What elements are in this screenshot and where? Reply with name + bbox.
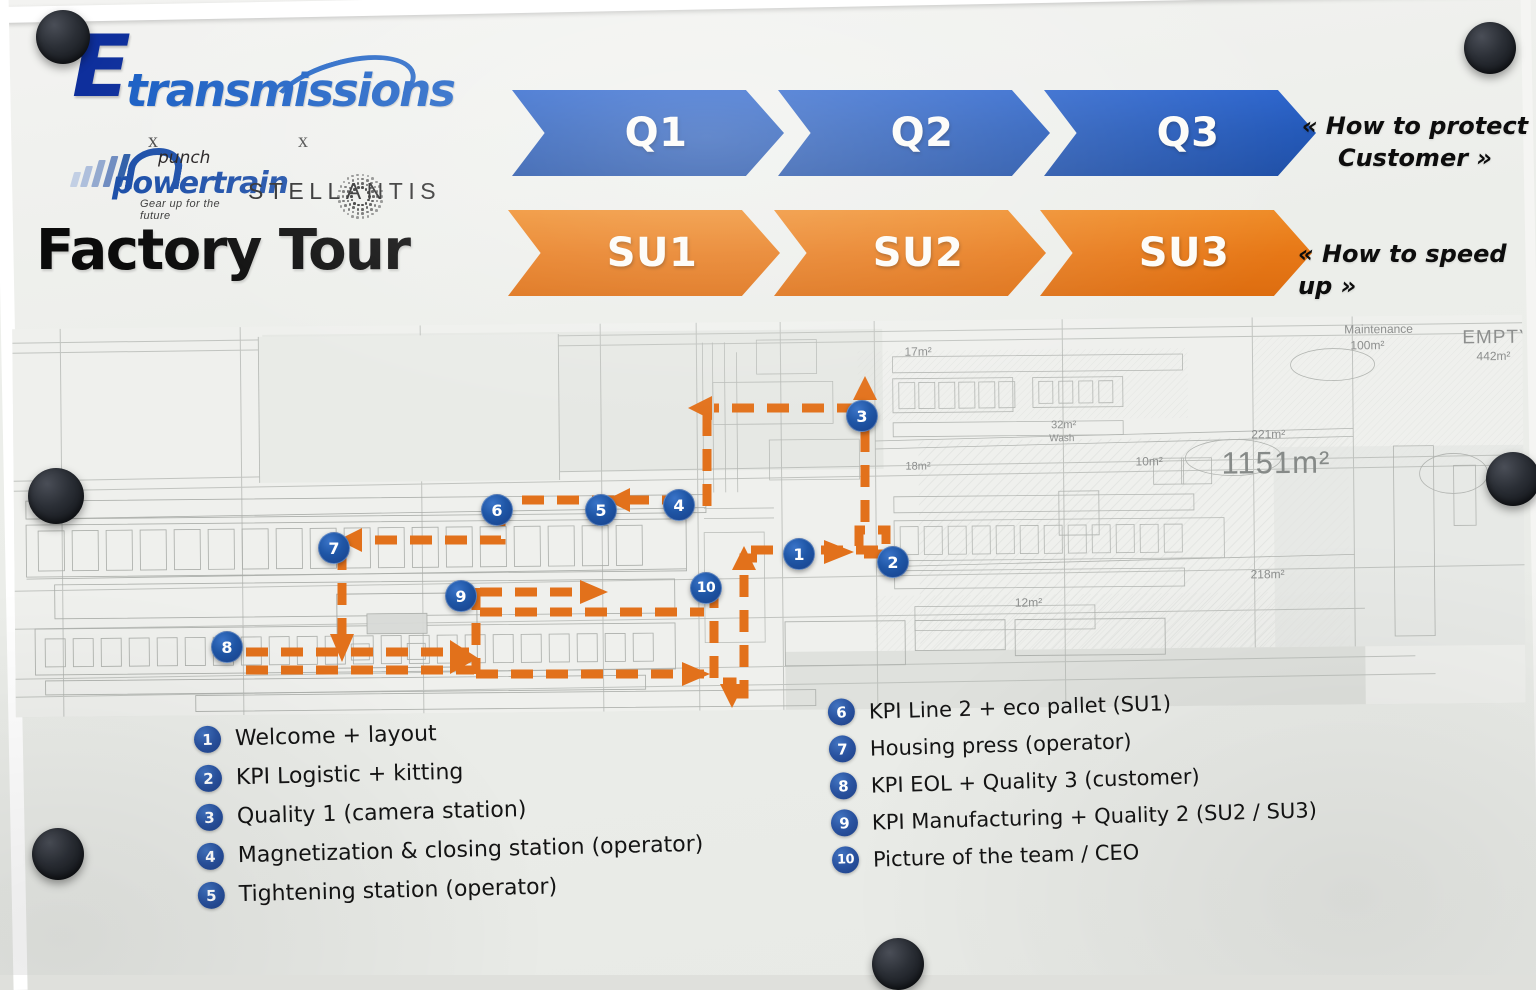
legend-marker-5: 5	[198, 882, 226, 910]
map-marker-6[interactable]: 6	[481, 494, 513, 526]
map-marker-1[interactable]: 1	[783, 538, 815, 570]
factory-tour-poster: E transmissions x x punch powertrain Gea…	[0, 0, 1536, 975]
area-label-empty: EMPTY	[1462, 327, 1526, 350]
list-item[interactable]: 2 KPI Logistic + kitting	[195, 753, 702, 792]
chevron-su2-label: SU2	[857, 230, 964, 276]
area-label-empty-size: 442m²	[1476, 349, 1510, 363]
stellantis-dots-icon	[336, 172, 382, 218]
legend-marker-9: 9	[831, 809, 859, 837]
legend-marker-4: 4	[197, 843, 225, 871]
area-label-18: 18m²	[905, 460, 930, 472]
punch-word: punch	[158, 148, 210, 168]
page-title: Factory Tour	[36, 218, 410, 283]
chevron-q1[interactable]: Q1	[512, 90, 784, 176]
magnet-top-left	[36, 10, 90, 64]
brand-logo-block: E transmissions x x punch powertrain Gea…	[62, 22, 412, 212]
quality-side-note-line1: « How to protect	[1300, 110, 1530, 142]
area-label-maintenance: Maintenance	[1344, 322, 1413, 337]
chevron-su2[interactable]: SU2	[774, 210, 1046, 296]
legend-label-6: KPI Line 2 + eco pallet (SU1)	[869, 691, 1172, 723]
area-label-10: 10m²	[1135, 454, 1162, 468]
speedup-chevron-row: SU1 SU2 SU3	[508, 210, 1298, 296]
chevron-su3-label: SU3	[1123, 230, 1230, 276]
swoosh-icon	[262, 41, 424, 146]
chevron-q2[interactable]: Q2	[778, 90, 1050, 176]
chevron-su1-label: SU1	[591, 230, 698, 276]
legend-label-1: Welcome + layout	[235, 721, 437, 751]
list-item[interactable]: 10 Picture of the team / CEO	[832, 833, 1319, 874]
area-label-12: 12m²	[1015, 595, 1042, 609]
chevron-q2-label: Q2	[875, 110, 954, 156]
map-marker-5[interactable]: 5	[585, 494, 617, 526]
area-label-wash: Wash	[1049, 433, 1074, 444]
area-label-218: 218m²	[1251, 567, 1285, 581]
list-item[interactable]: 8 KPI EOL + Quality 3 (customer)	[830, 759, 1317, 800]
punch-powertrain-logo: punch powertrain Gear up for the future	[72, 146, 232, 216]
tour-legend: 1 Welcome + layout 2 KPI Logistic + kitt…	[0, 700, 1536, 975]
legend-label-5: Tightening station (operator)	[239, 874, 558, 907]
map-marker-9[interactable]: 9	[445, 580, 477, 612]
map-marker-10[interactable]: 10	[690, 572, 722, 604]
chevron-q3-label: Q3	[1141, 110, 1220, 156]
poster-header: E transmissions x x punch powertrain Gea…	[0, 0, 1536, 320]
list-item[interactable]: 3 Quality 1 (camera station)	[196, 792, 703, 831]
legend-marker-6: 6	[828, 698, 856, 726]
map-marker-3[interactable]: 3	[846, 400, 878, 432]
legend-label-3: Quality 1 (camera station)	[237, 797, 527, 829]
area-label-17: 17m²	[904, 344, 931, 358]
legend-marker-8: 8	[830, 772, 858, 800]
list-item[interactable]: 9 KPI Manufacturing + Quality 2 (SU2 / S…	[831, 796, 1318, 837]
speedup-side-note: « How to speed up »	[1298, 238, 1536, 303]
area-label-32: 32m²	[1051, 419, 1076, 431]
brand-connector-right: x	[298, 130, 308, 153]
legend-marker-7: 7	[829, 735, 857, 763]
legend-label-2: KPI Logistic + kitting	[236, 760, 464, 791]
list-item[interactable]: 1 Welcome + layout	[194, 714, 701, 753]
list-item[interactable]: 7 Housing press (operator)	[829, 722, 1316, 763]
area-label-1151: 1151m²	[1221, 445, 1330, 482]
stellantis-logo: STELLANTIS	[248, 174, 418, 214]
list-item[interactable]: 4 Magnetization & closing station (opera…	[197, 831, 704, 870]
quality-chevron-row: Q1 Q2 Q3	[512, 90, 1302, 176]
map-marker-7[interactable]: 7	[318, 532, 350, 564]
legend-marker-3: 3	[196, 804, 224, 832]
magnet-middle-right	[1486, 452, 1536, 506]
legend-marker-1: 1	[194, 726, 222, 754]
magnet-bottom-center	[872, 938, 924, 990]
quality-side-note-line2: Customer »	[1300, 142, 1530, 174]
legend-column-left: 1 Welcome + layout 2 KPI Logistic + kitt…	[194, 714, 705, 921]
map-marker-2[interactable]: 2	[877, 546, 909, 578]
magnet-middle-left	[28, 468, 84, 524]
magnet-bottom-left	[32, 828, 84, 880]
quality-side-note: « How to protect Customer »	[1300, 110, 1530, 175]
legend-label-9: KPI Manufacturing + Quality 2 (SU2 / SU3…	[872, 798, 1317, 834]
legend-label-8: KPI EOL + Quality 3 (customer)	[871, 764, 1200, 797]
map-marker-8[interactable]: 8	[211, 631, 243, 663]
legend-label-7: Housing press (operator)	[870, 729, 1132, 760]
magnet-top-right	[1464, 22, 1516, 74]
chevron-su1[interactable]: SU1	[508, 210, 780, 296]
chevron-su3[interactable]: SU3	[1040, 210, 1312, 296]
map-marker-4[interactable]: 4	[663, 489, 695, 521]
legend-marker-10: 10	[832, 846, 860, 874]
legend-label-4: Magnetization & closing station (operato…	[238, 832, 704, 868]
legend-marker-2: 2	[195, 765, 223, 793]
legend-column-right: 6 KPI Line 2 + eco pallet (SU1) 7 Housin…	[828, 685, 1319, 883]
legend-label-10: Picture of the team / CEO	[873, 840, 1140, 871]
area-label-221: 221m²	[1251, 427, 1285, 441]
chevron-q1-label: Q1	[609, 110, 688, 156]
chevron-q3[interactable]: Q3	[1044, 90, 1316, 176]
area-label-maintenance-size: 100m²	[1350, 338, 1384, 352]
list-item[interactable]: 5 Tightening station (operator)	[198, 870, 705, 909]
